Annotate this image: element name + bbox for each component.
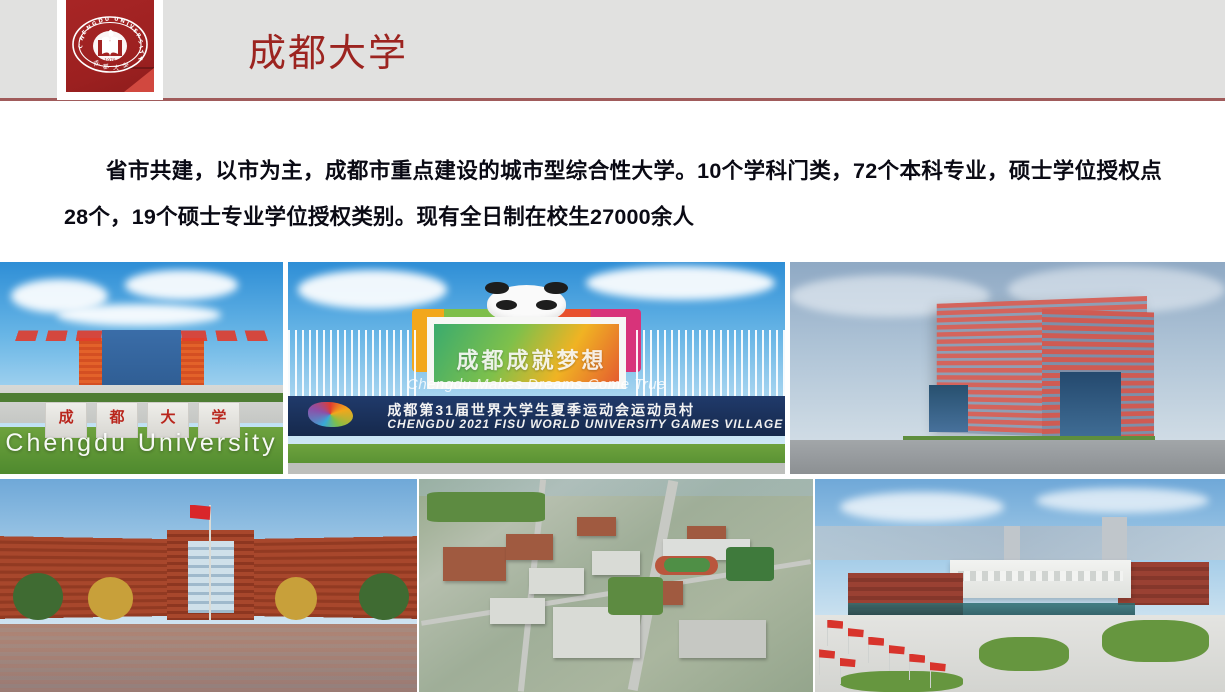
gate-caption-english: Chengdu University (0, 429, 283, 458)
svg-text:大: 大 (113, 64, 120, 72)
photo-campus-aerial[interactable] (419, 479, 813, 692)
svg-text:T: T (137, 50, 144, 56)
photo-brick-academic-building[interactable] (0, 479, 417, 692)
white-fence-right (636, 330, 785, 398)
tree (359, 573, 409, 620)
green-park (726, 547, 773, 581)
photo-games-village[interactable]: 成都成就梦想 Chengdu Makes Dreams Come True 成都… (288, 262, 785, 474)
building-glass-recess (929, 385, 968, 432)
photo-campus-plaza-flags[interactable] (815, 479, 1225, 692)
green-park (608, 577, 663, 615)
distant-tower (1004, 526, 1020, 560)
tree-autumn (275, 577, 317, 620)
cloud-shape (586, 266, 775, 300)
road-strip (288, 463, 785, 474)
flagpole (209, 505, 211, 620)
svg-text:C: C (77, 44, 84, 50)
building-glass-atrium (1060, 372, 1121, 436)
campus-block (577, 517, 616, 536)
lawn-island (840, 671, 963, 692)
village-slogan-chinese: 成都成就梦想 (427, 343, 636, 375)
svg-text:D: D (98, 18, 104, 25)
sports-track (655, 556, 718, 575)
campus-block (592, 551, 639, 574)
campus-building-white (950, 560, 1130, 598)
entrance-plaza (0, 385, 283, 423)
lawn-island (1102, 620, 1209, 663)
panda-eye-right (536, 300, 557, 310)
green-park (427, 492, 545, 522)
lawn-island (979, 637, 1069, 671)
campus-block (506, 534, 553, 560)
campus-block (490, 598, 545, 624)
panda-eye-left (496, 300, 517, 310)
photo-red-landmark-building[interactable] (790, 262, 1225, 474)
svg-text:U: U (114, 17, 119, 23)
cloud-shape (57, 304, 221, 325)
campus-building-right (1118, 562, 1208, 605)
fisu-games-logo-icon (308, 402, 353, 427)
village-wall-text-english: CHENGDU 2021 FISU WORLD UNIVERSITY GAMES… (387, 417, 765, 431)
tree (13, 573, 63, 620)
distant-tower (1102, 517, 1127, 564)
university-crest-icon: 1978 C H E N G D U U N I V E R S I T Y 成… (72, 16, 148, 73)
header-divider-rule (0, 98, 1225, 101)
page-header (0, 0, 1225, 100)
photo-gallery-grid: 成 都 大 学 Chengdu University 成都成就梦想 Chengd… (0, 262, 1225, 692)
campus-block (679, 620, 766, 658)
cloud-shape (1036, 488, 1208, 514)
page-title: 成都大学 (248, 27, 408, 81)
tree-autumn (88, 577, 134, 620)
svg-text:N: N (120, 18, 126, 25)
ground-floor-glazing (848, 603, 1135, 616)
distant-city-skyline (815, 526, 1225, 560)
white-fence-left (288, 330, 417, 398)
cloud-shape (298, 270, 447, 308)
red-flag-banner-row (15, 330, 267, 340)
svg-text:都: 都 (102, 62, 109, 71)
photo-main-gate[interactable]: 成 都 大 学 Chengdu University (0, 262, 283, 474)
svg-text:Y: Y (136, 55, 143, 61)
svg-text:U: U (105, 16, 110, 22)
campus-block (443, 547, 506, 581)
intro-paragraph: 省市共建，以市为主，成都市重点建设的城市型综合性大学。10个学科门类，72个本科… (64, 148, 1162, 240)
building-reflection (0, 624, 417, 692)
panda-ear-left (485, 282, 509, 295)
hedge-row (0, 393, 283, 401)
cloud-shape (840, 492, 1004, 522)
campus-block (529, 568, 584, 594)
road-foreground (790, 440, 1225, 474)
central-glass-curtain (188, 541, 234, 613)
cloud-shape (125, 270, 238, 300)
svg-text:成: 成 (92, 59, 100, 68)
